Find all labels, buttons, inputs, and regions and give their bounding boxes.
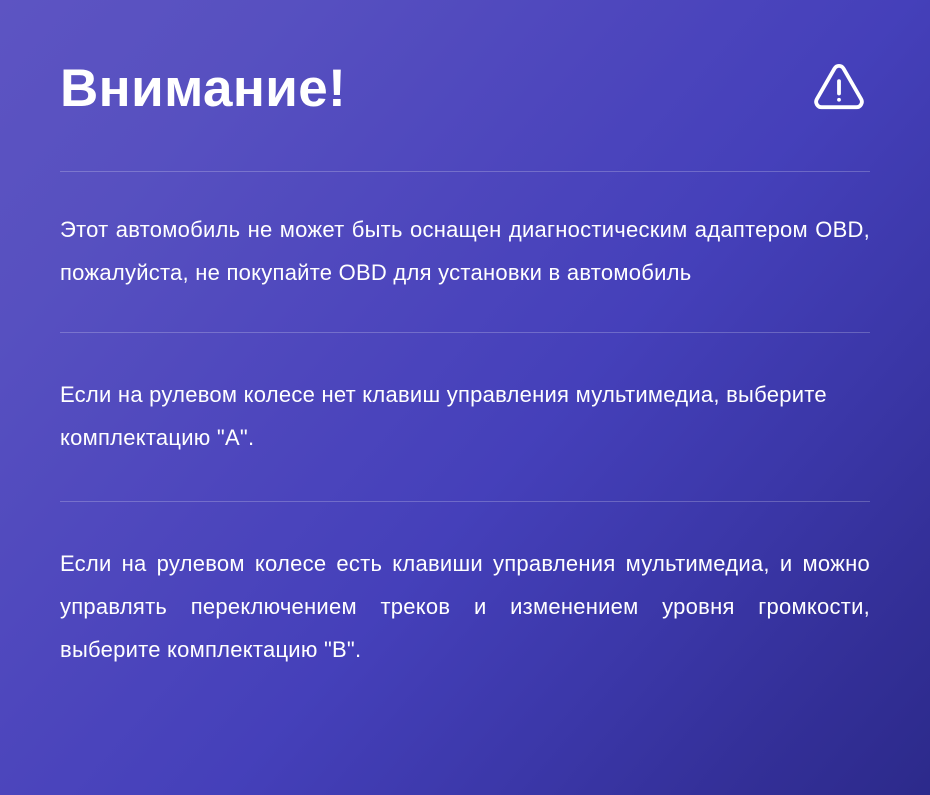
notice-block-variant-b: Если на рулевом колесе есть клавиши упра…	[60, 502, 870, 711]
notice-text-variant-b: Если на рулевом колесе есть клавиши упра…	[60, 542, 870, 671]
notice-text-obd: Этот автомобиль не может быть оснащен ди…	[60, 208, 870, 294]
notice-header: Внимание!	[60, 0, 870, 171]
notice-text-variant-a: Если на рулевом колесе нет клавиш управл…	[60, 373, 870, 459]
notice-block-variant-a: Если на рулевом колесе нет клавиш управл…	[60, 333, 870, 501]
page-title: Внимание!	[60, 56, 346, 115]
warning-notice-card: Внимание! Этот автомобиль не может быть …	[0, 0, 930, 795]
notice-block-obd: Этот автомобиль не может быть оснащен ди…	[60, 172, 870, 332]
warning-triangle-icon	[810, 55, 870, 117]
